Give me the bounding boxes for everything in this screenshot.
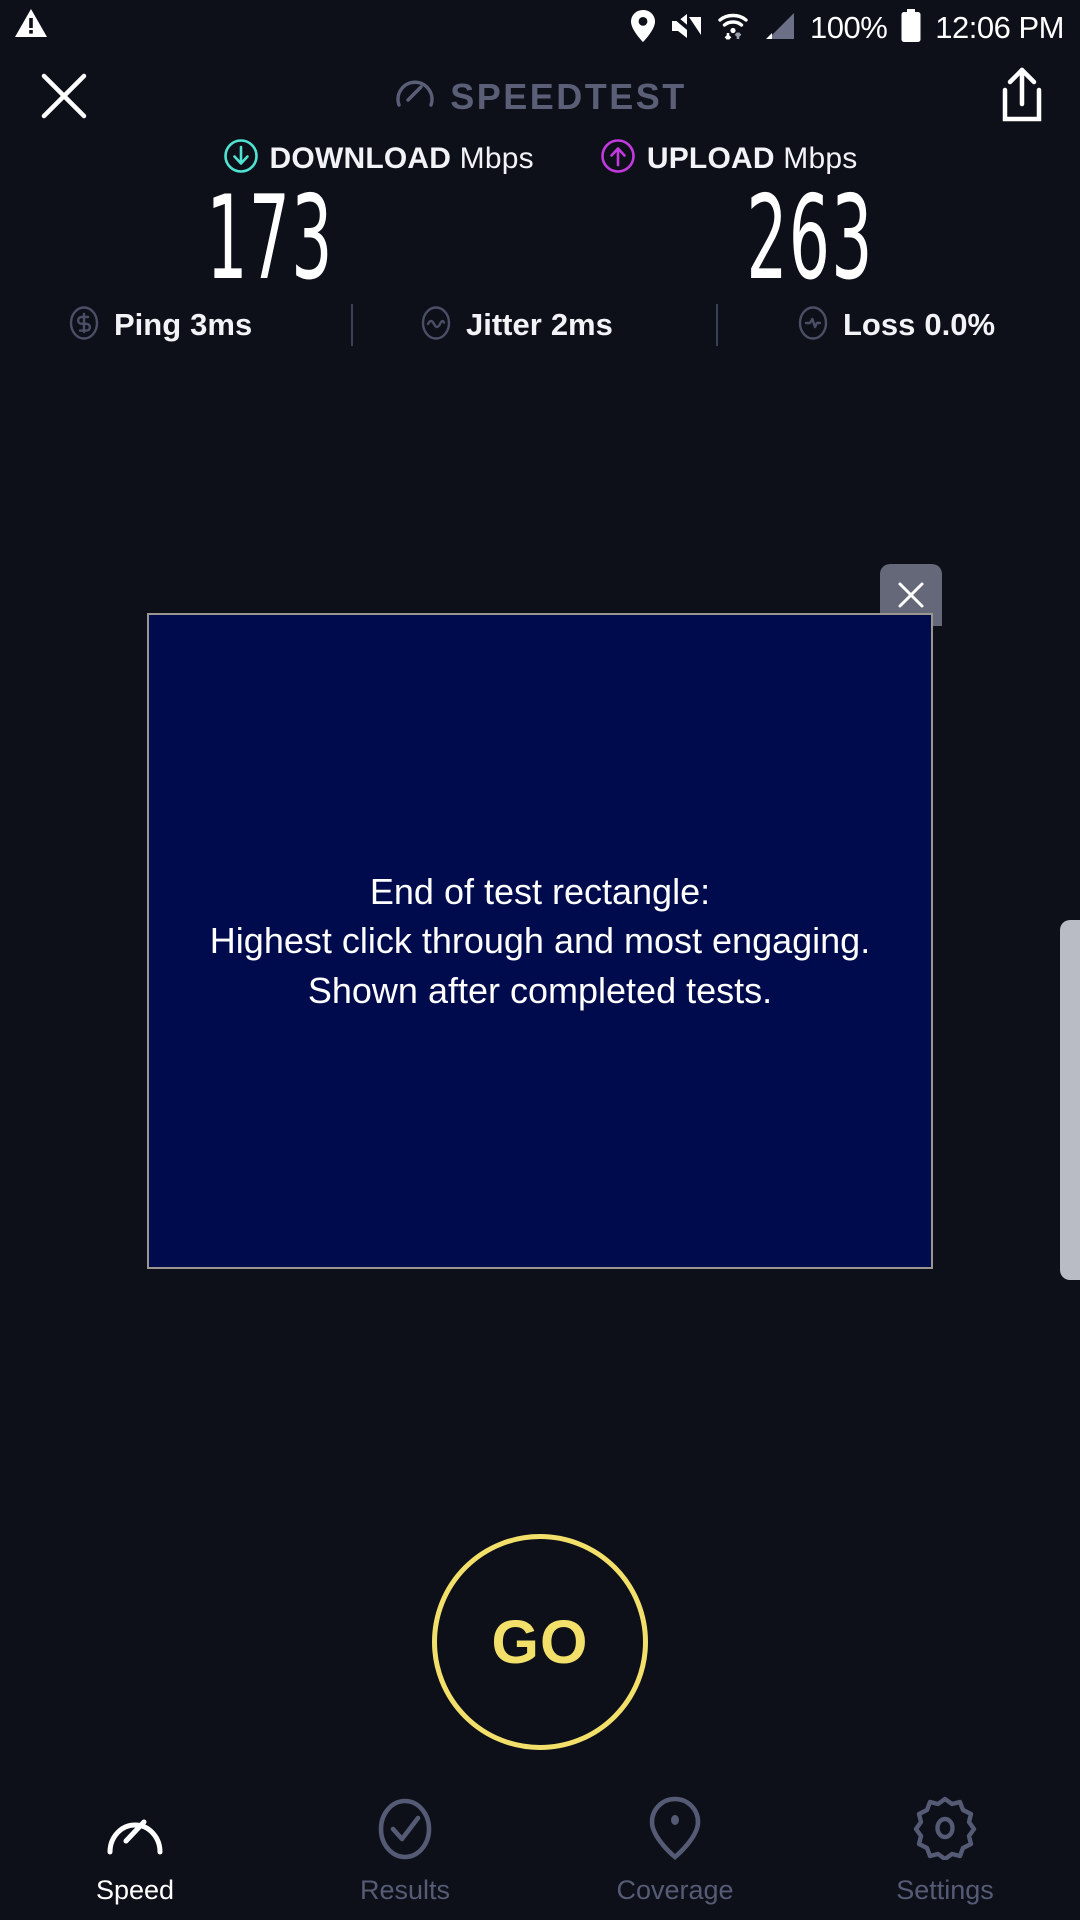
- metric-jitter: Jitter2ms: [418, 305, 613, 346]
- wifi-icon: [716, 9, 750, 48]
- results-panel: DOWNLOAD Mbps UPLOAD Mbps 173 263: [0, 138, 1080, 297]
- location-pin-icon: [630, 9, 656, 48]
- metric-jitter-text: Jitter2ms: [466, 307, 613, 343]
- close-icon: [894, 578, 928, 612]
- nav-item-settings[interactable]: Settings: [810, 1788, 1080, 1920]
- status-bar-icons: 100% 12:06 PM: [630, 0, 1064, 56]
- status-bar-clock: 12:06 PM: [935, 10, 1064, 46]
- download-value: 173: [103, 181, 438, 297]
- ping-icon: [66, 305, 102, 346]
- network-metrics-row: Ping3ms Jitter2ms Loss0.0%: [0, 298, 1080, 352]
- app-title-group: SPEEDTEST: [0, 72, 1080, 121]
- nav-label-coverage: Coverage: [616, 1875, 733, 1906]
- battery-full-icon: [900, 9, 922, 48]
- nav-item-speed[interactable]: Speed: [0, 1788, 270, 1920]
- cell-signal-icon: [763, 11, 797, 46]
- bottom-navigation-bar: Speed Results Coverage: [0, 1788, 1080, 1920]
- ad-line: End of test rectangle:: [210, 867, 870, 916]
- status-bar: 100% 12:06 PM: [0, 0, 1080, 56]
- ad-line: Shown after completed tests.: [210, 966, 870, 1015]
- app-header: SPEEDTEST: [0, 56, 1080, 136]
- page-title: SPEEDTEST: [450, 76, 687, 118]
- warning-triangle-icon: [14, 7, 48, 44]
- results-values-row: 173 263: [0, 181, 1080, 297]
- page-scrollbar[interactable]: [1060, 920, 1080, 1280]
- gear-icon: [911, 1796, 979, 1865]
- results-labels-row: DOWNLOAD Mbps UPLOAD Mbps: [0, 138, 1080, 179]
- nav-label-results: Results: [360, 1875, 450, 1906]
- speedometer-icon: [101, 1796, 169, 1865]
- metric-loss-text: Loss0.0%: [843, 307, 995, 343]
- ad-text: End of test rectangle: Highest click thr…: [210, 867, 870, 1015]
- go-button-label: GO: [492, 1607, 589, 1677]
- map-pin-icon: [641, 1796, 709, 1865]
- volume-mute-icon: [669, 11, 703, 46]
- speedtest-app-screen: 100% 12:06 PM SPEEDTEST: [0, 0, 1080, 1920]
- metric-loss: Loss0.0%: [795, 305, 995, 346]
- metric-divider: [716, 304, 718, 346]
- nav-label-settings: Settings: [896, 1875, 994, 1906]
- nav-item-coverage[interactable]: Coverage: [540, 1788, 810, 1920]
- check-circle-icon: [371, 1796, 439, 1865]
- loss-icon: [795, 305, 831, 346]
- share-icon[interactable]: [996, 66, 1048, 129]
- arrow-up-circle-icon: [600, 138, 636, 179]
- battery-percent-label: 100%: [810, 10, 887, 46]
- jitter-icon: [418, 305, 454, 346]
- metric-ping-text: Ping3ms: [114, 307, 252, 343]
- go-button[interactable]: GO: [432, 1534, 648, 1750]
- advertisement-banner[interactable]: End of test rectangle: Highest click thr…: [147, 613, 933, 1269]
- ad-line: Highest click through and most engaging.: [210, 916, 870, 965]
- speedometer-icon: [393, 72, 437, 121]
- nav-item-results[interactable]: Results: [270, 1788, 540, 1920]
- nav-label-speed: Speed: [96, 1875, 174, 1906]
- upload-value: 263: [643, 181, 978, 297]
- metric-ping: Ping3ms: [66, 305, 252, 346]
- metric-divider: [351, 304, 353, 346]
